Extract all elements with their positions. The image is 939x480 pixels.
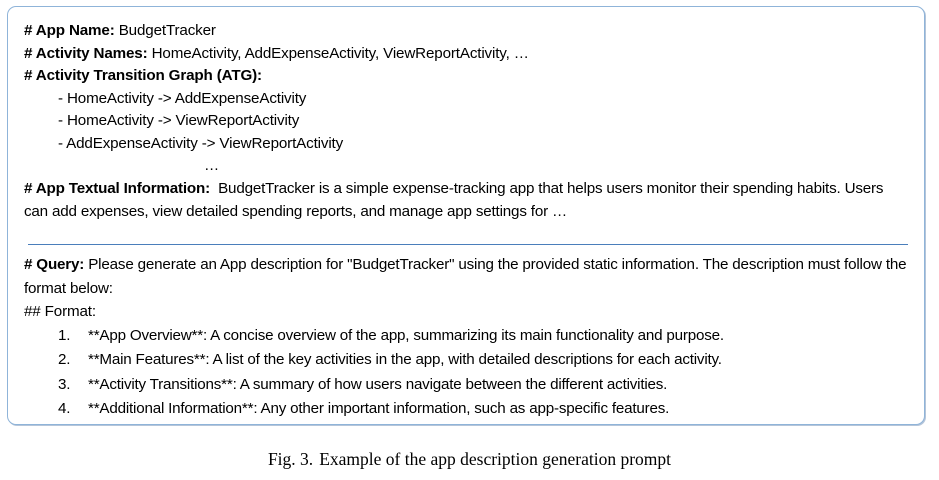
query-section: # Query: Please generate an App descript… [8, 253, 924, 422]
format-item-number: 4. [58, 397, 88, 422]
section-divider [28, 244, 908, 245]
prompt-box: # App Name: BudgetTracker # Activity Nam… [7, 6, 925, 425]
format-item-text: **Main Features**: A list of the key act… [88, 348, 908, 373]
format-label: ## Format: [24, 300, 908, 324]
figure-container: # App Name: BudgetTracker # Activity Nam… [0, 0, 939, 480]
format-item-number: 2. [58, 348, 88, 373]
activity-names-value: HomeActivity, AddExpenseActivity, ViewRe… [152, 45, 529, 62]
format-item: 3. **Activity Transitions**: A summary o… [24, 373, 908, 398]
atg-line: # Activity Transition Graph (ATG): [24, 65, 908, 88]
format-item-text: **App Overview**: A concise overview of … [88, 324, 908, 349]
app-name-value: BudgetTracker [119, 22, 216, 39]
atg-edge: - AddExpenseActivity -> ViewReportActivi… [24, 133, 908, 156]
atg-edge: - HomeActivity -> AddExpenseActivity [24, 88, 908, 111]
app-name-line: # App Name: BudgetTracker [24, 20, 908, 43]
format-item-number: 3. [58, 373, 88, 398]
format-item-text: **Additional Information**: Any other im… [88, 397, 908, 422]
activity-names-line: # Activity Names: HomeActivity, AddExpen… [24, 43, 908, 66]
app-textual-information-block: # App Textual Information: BudgetTracker… [24, 177, 908, 224]
query-text: Please generate an App description for "… [24, 256, 906, 297]
query-label: # Query: [24, 256, 84, 273]
format-item: 1. **App Overview**: A concise overview … [24, 324, 908, 349]
format-item-number: 1. [58, 324, 88, 349]
figure-caption-number: Fig. 3. [268, 449, 313, 469]
atg-label: # Activity Transition Graph (ATG): [24, 67, 262, 84]
atg-ellipsis: … [24, 156, 908, 175]
format-item-list: 1. **App Overview**: A concise overview … [24, 324, 908, 422]
format-item-text: **Activity Transitions**: A summary of h… [88, 373, 908, 398]
figure-caption-text: Example of the app description generatio… [319, 449, 671, 469]
format-item: 4. **Additional Information**: Any other… [24, 397, 908, 422]
query-paragraph: # Query: Please generate an App descript… [24, 253, 908, 300]
activity-names-label: # Activity Names: [24, 45, 148, 62]
format-item: 2. **Main Features**: A list of the key … [24, 348, 908, 373]
static-information-section: # App Name: BudgetTracker # Activity Nam… [8, 7, 924, 224]
figure-caption: Fig. 3.Example of the app description ge… [0, 448, 939, 470]
app-textual-information-label: # App Textual Information: [24, 180, 210, 197]
app-name-label: # App Name: [24, 22, 115, 39]
atg-edge: - HomeActivity -> ViewReportActivity [24, 110, 908, 133]
